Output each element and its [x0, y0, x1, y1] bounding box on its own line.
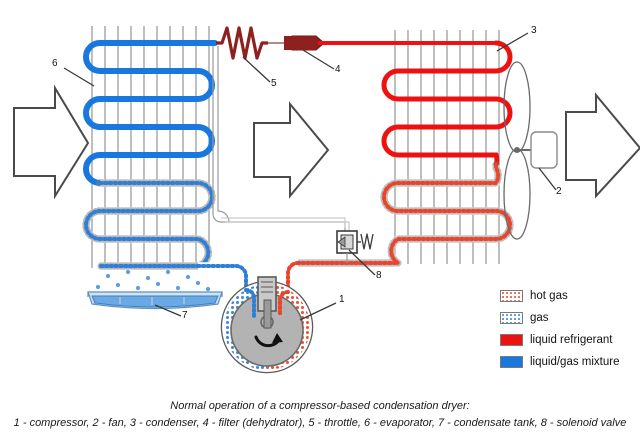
leader-6 [64, 68, 94, 86]
callout-2: 2 [556, 186, 562, 197]
evaporator-coil [86, 43, 246, 290]
legend-item-liquid-gas-mixture: liquid/gas mixture [500, 352, 640, 371]
legend: hot gas gas liquid refrigerant liquid/ga… [500, 286, 640, 374]
leader-2 [539, 168, 556, 190]
fan-propeller [504, 62, 557, 239]
legend-item-hot-gas: hot gas [500, 286, 640, 305]
solenoid-valve [337, 231, 373, 263]
condensate-tank [88, 292, 222, 309]
callout-7: 7 [182, 310, 188, 321]
legend-label-liquid-refrigerant: liquid refrigerant [530, 334, 612, 346]
callout-4: 4 [335, 64, 341, 75]
caption-line-1: Normal operation of a compressor-based c… [0, 398, 640, 415]
diagram-graphics [0, 0, 640, 444]
compressor-body [222, 277, 312, 372]
leader-5 [243, 57, 270, 82]
callout-5: 5 [271, 78, 277, 89]
caption-line-2: 1 - compressor, 2 - fan, 3 - condenser, … [0, 415, 640, 432]
legend-item-liquid-refrigerant: liquid refrigerant [500, 330, 640, 349]
air-outlet-arrow [566, 95, 640, 196]
water-droplets [96, 270, 210, 291]
throttle-spring [216, 28, 268, 58]
callout-8: 8 [376, 270, 382, 281]
figure-caption: Normal operation of a compressor-based c… [0, 398, 640, 432]
hot-gas-swatch [500, 290, 523, 302]
condenser-coil [288, 43, 510, 292]
callout-1: 1 [339, 294, 345, 305]
liquid-gas-mixture-swatch [500, 356, 523, 368]
callout-3: 3 [531, 25, 537, 36]
callout-6: 6 [52, 58, 58, 69]
gas-swatch [500, 312, 523, 324]
legend-label-gas: gas [530, 312, 549, 324]
callout-leaders [64, 33, 556, 320]
condenser-fins [395, 30, 499, 264]
air-inlet-arrow [14, 88, 88, 196]
air-mid-arrow [254, 104, 328, 196]
leader-4 [303, 50, 334, 69]
filter-capsule [268, 36, 324, 50]
liquid-refrigerant-swatch [500, 334, 523, 346]
legend-item-gas: gas [500, 308, 640, 327]
legend-label-hot-gas: hot gas [530, 290, 568, 302]
legend-label-liquid-gas-mixture: liquid/gas mixture [530, 356, 619, 368]
evaporator-fins [92, 26, 209, 268]
diagram-canvas: 6 5 4 3 2 1 7 8 hot gas gas liquid refri… [0, 0, 640, 444]
